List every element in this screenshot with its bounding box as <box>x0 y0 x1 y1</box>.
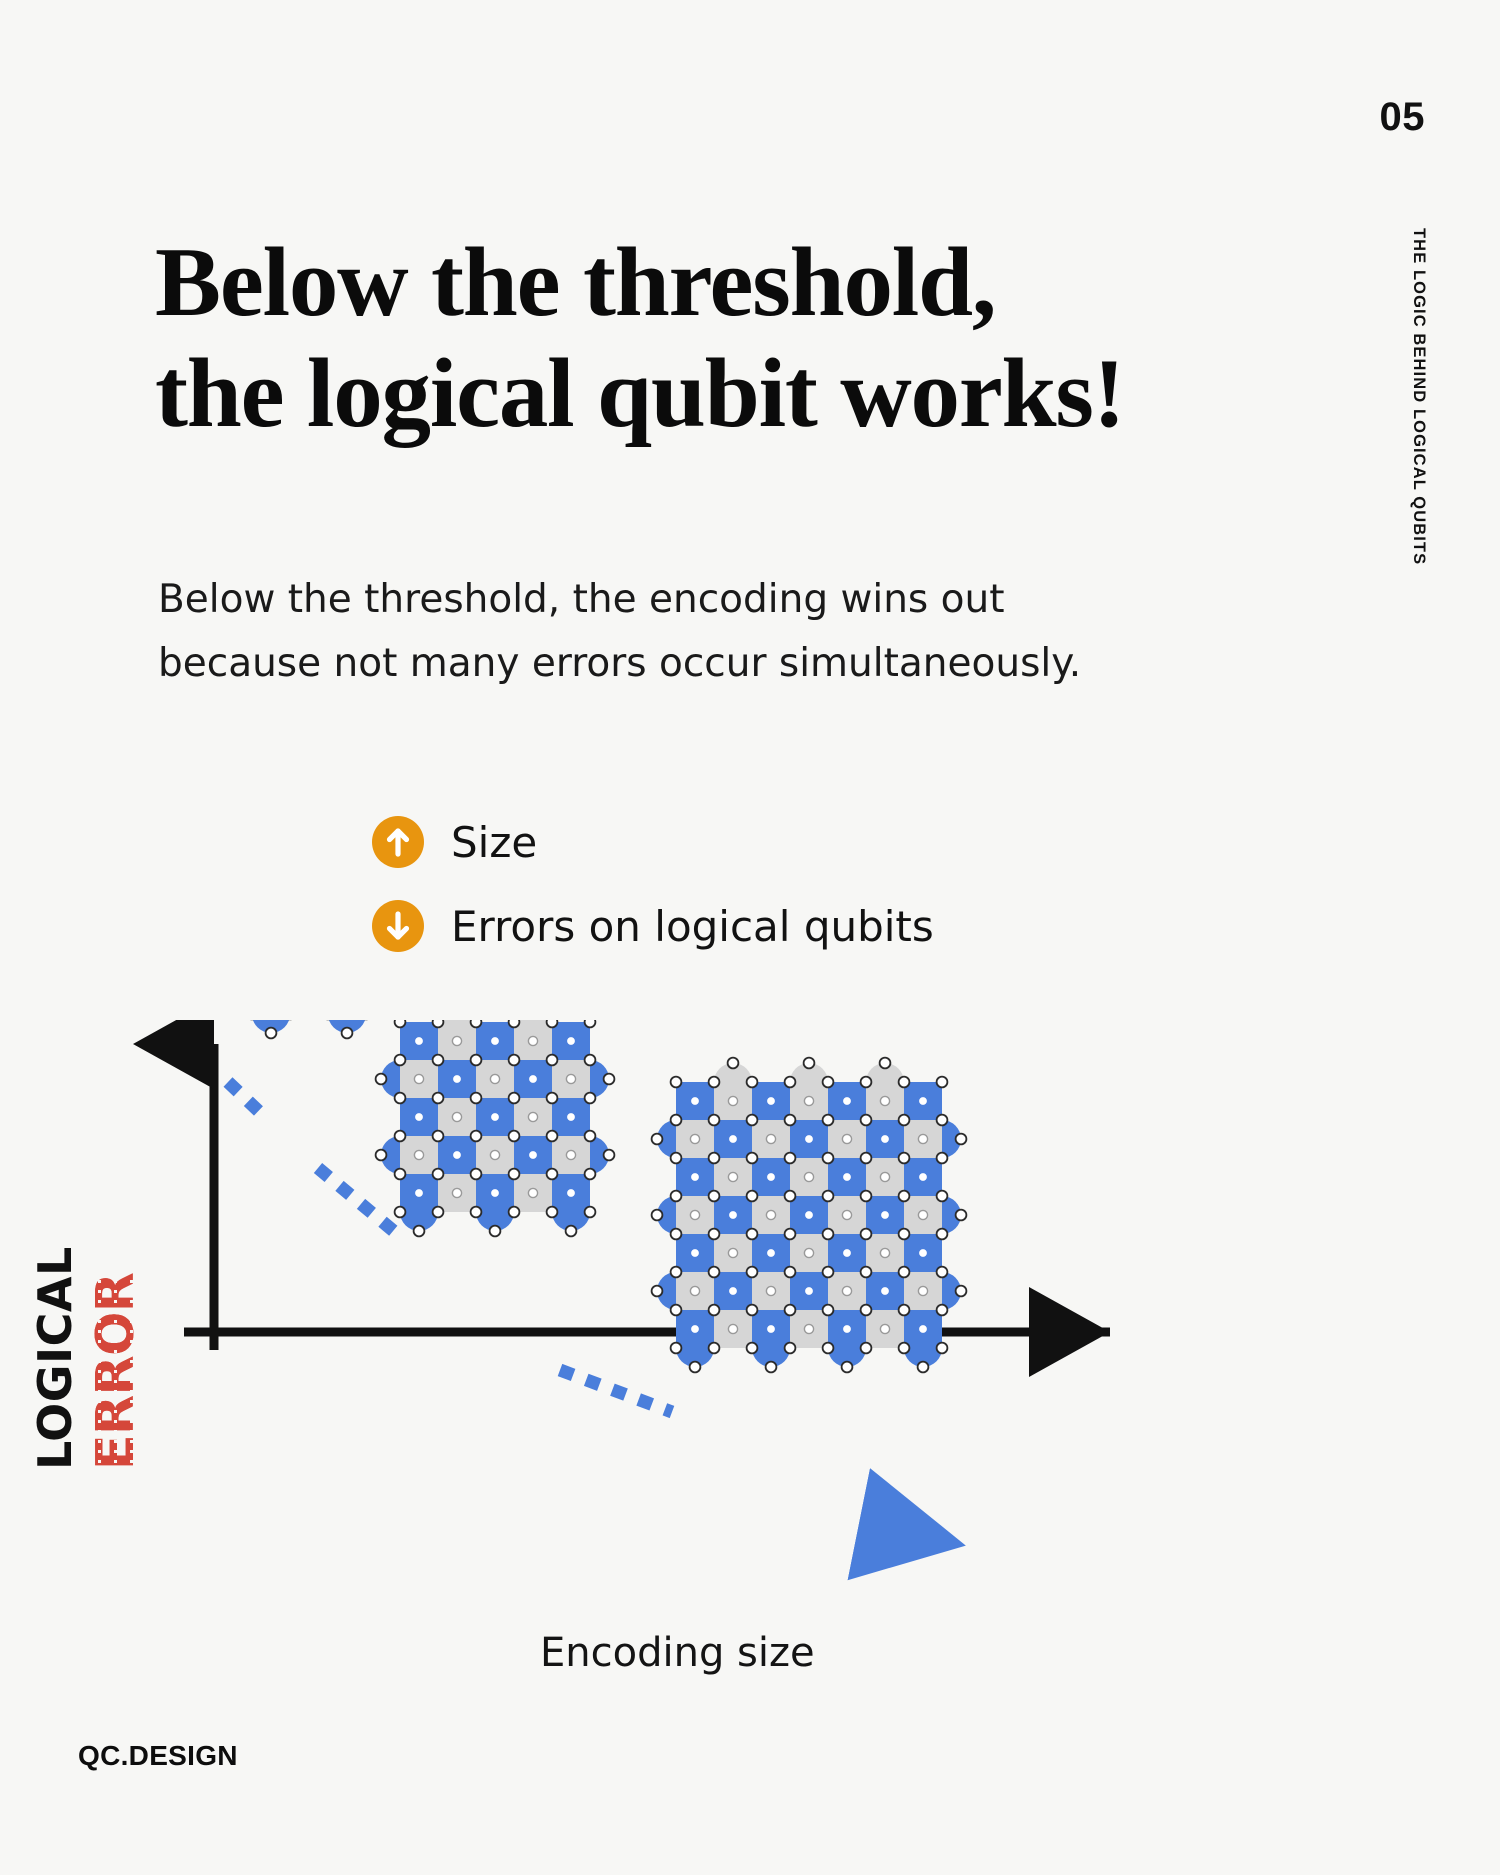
medium-surface-code <box>376 1020 615 1236</box>
list-item: Errors on logical qubits <box>372 884 934 968</box>
small-surface-code <box>228 1020 391 1038</box>
bullet-label: Errors on logical qubits <box>451 902 934 951</box>
title-line-2: the logical qubit works! <box>155 339 1335 450</box>
title-line-1: Below the threshold, <box>155 228 1335 339</box>
x-axis-label: Encoding size <box>540 1630 815 1676</box>
subtitle-line-1: Below the threshold, the encoding wins o… <box>158 568 1168 632</box>
arrow-down-circle-icon <box>372 900 424 952</box>
arrow-up-circle-icon <box>372 816 424 868</box>
surface-code-lattices <box>228 1020 967 1372</box>
subtitle-line-2: because not many errors occur simultaneo… <box>158 632 1168 696</box>
y-axis-label: LOGICAL ERROR <box>60 1140 220 1470</box>
subtitle: Below the threshold, the encoding wins o… <box>158 568 1168 697</box>
slide-canvas: 05 THE LOGIC BEHIND LOGICAL QUBITS Below… <box>0 0 1500 1875</box>
boundary-caps <box>233 1020 385 1033</box>
page-title: Below the threshold, the logical qubit w… <box>155 228 1335 450</box>
y-axis-label-logical: LOGICAL <box>28 1246 82 1470</box>
bullet-list: Size Errors on logical qubits <box>372 800 934 968</box>
list-item: Size <box>372 800 934 884</box>
vertical-running-head: THE LOGIC BEHIND LOGICAL QUBITS <box>1398 228 1428 565</box>
footer-logo: QC.DESIGN <box>78 1740 238 1772</box>
large-surface-code <box>652 1058 967 1373</box>
bullet-label: Size <box>451 818 537 867</box>
data-qubits <box>228 1020 391 1038</box>
y-axis-label-error-text: ERROR <box>86 1273 146 1470</box>
page-number: 05 <box>1380 95 1426 140</box>
y-axis-label-error: ERROR <box>86 1273 146 1470</box>
